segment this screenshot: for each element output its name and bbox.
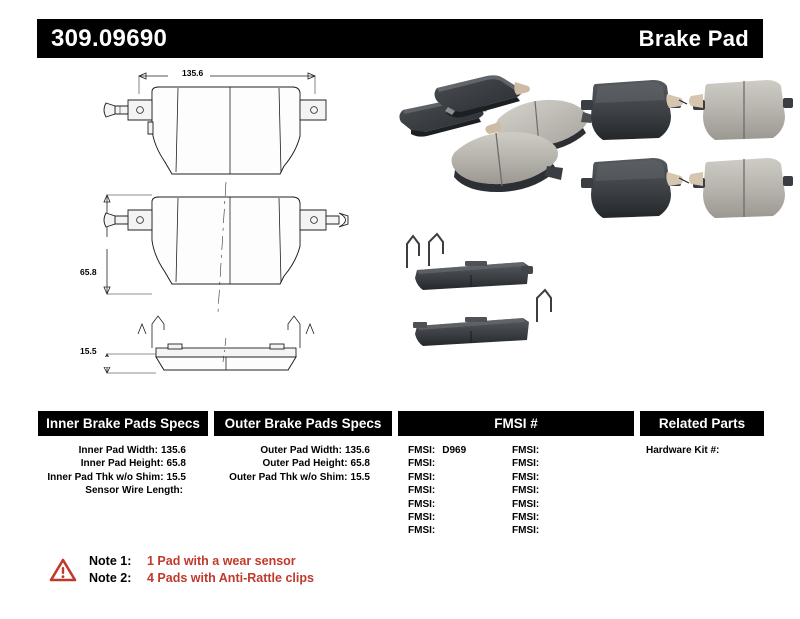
spec-row: Outer Pad Thk w/o Shim:15.5 — [214, 471, 392, 484]
fmsi-row: FMSI: — [408, 511, 512, 524]
fmsi-row: FMSI:D969 — [408, 444, 512, 457]
spec-sheet-page: 309.09690 Brake Pad 135.6 65.8 15.5 STOP… — [0, 0, 800, 619]
fmsi-label: FMSI: — [408, 525, 435, 536]
note-text: 1 Pad with a wear sensor — [147, 553, 296, 570]
spec-row: Outer Pad Height:65.8 — [214, 457, 392, 470]
spec-column-related: Related Parts Hardware Kit #: — [640, 411, 764, 457]
part-number: 309.09690 — [51, 25, 167, 53]
spec-row: Outer Pad Width:135.6 — [214, 444, 392, 457]
related-row: Hardware Kit #: — [646, 444, 764, 457]
spec-label: Inner Pad Thk w/o Shim: — [47, 472, 163, 483]
width-dimension-label: 135.6 — [182, 68, 203, 78]
photo-group-angled — [399, 75, 593, 192]
fmsi-label: FMSI: — [512, 458, 539, 469]
fmsi-row: FMSI: — [512, 471, 616, 484]
spec-value: 65.8 — [351, 458, 370, 469]
photo-flat-dark-top — [581, 80, 687, 140]
related-body: Hardware Kit #: — [640, 436, 764, 457]
related-label: Hardware Kit #: — [646, 445, 719, 456]
warning-triangle-icon — [50, 558, 76, 582]
pad-top-view — [104, 84, 326, 180]
wear-sensor-connector — [104, 103, 128, 117]
thickness-dimension-line — [98, 354, 156, 373]
photo-flat-dark-bottom — [581, 158, 689, 218]
spec-column-fmsi: FMSI # FMSI:D969 FMSI: FMSI: FMSI: FMSI:… — [398, 411, 634, 538]
technical-drawing: 135.6 65.8 15.5 STOPTECH STOPTECH — [60, 62, 400, 382]
fmsi-label: FMSI: — [408, 512, 435, 523]
spec-row: Inner Pad Width:135.6 — [38, 444, 208, 457]
fmsi-row: FMSI: — [512, 444, 616, 457]
spec-label: Outer Pad Width: — [260, 445, 342, 456]
fmsi-label: FMSI: — [408, 458, 435, 469]
spec-column-body-inner: Inner Pad Width:135.6 Inner Pad Height:6… — [38, 436, 208, 498]
fmsi-row: FMSI: — [408, 524, 512, 537]
spec-column-header-outer: Outer Brake Pads Specs — [214, 411, 392, 436]
pad-rear-view — [104, 182, 348, 312]
photo-group-edge — [407, 234, 551, 346]
spec-value: 135.6 — [161, 445, 186, 456]
spec-column-header-fmsi: FMSI # — [398, 411, 634, 436]
photo-group-flat — [581, 80, 793, 218]
fmsi-row: FMSI: — [512, 498, 616, 511]
fmsi-body: FMSI:D969 FMSI: FMSI: FMSI: FMSI: FMSI: … — [398, 436, 634, 538]
anti-rattle-clip-right — [288, 316, 314, 348]
spec-column-outer: Outer Brake Pads Specs Outer Pad Width:1… — [214, 411, 392, 484]
note-label: Note 2: — [89, 570, 141, 587]
spec-column-header-inner: Inner Brake Pads Specs — [38, 411, 208, 436]
note-label: Note 1: — [89, 553, 141, 570]
note-line: Note 2: 4 Pads with Anti-Rattle clips — [89, 570, 314, 587]
notes-section: Note 1: 1 Pad with a wear sensor Note 2:… — [50, 553, 314, 587]
fmsi-row: FMSI: — [408, 457, 512, 470]
note-text: 4 Pads with Anti-Rattle clips — [147, 570, 314, 587]
spec-label: Sensor Wire Length: — [85, 485, 183, 496]
spec-row: Inner Pad Thk w/o Shim:15.5 — [38, 471, 208, 484]
fmsi-row: FMSI: — [512, 457, 616, 470]
fmsi-label: FMSI: — [512, 445, 539, 456]
spec-value: 15.5 — [167, 472, 186, 483]
fmsi-label: FMSI: — [512, 512, 539, 523]
photo-flat-grey-bottom — [689, 158, 793, 218]
anti-rattle-clip-left — [138, 316, 164, 348]
fmsi-label: FMSI: — [512, 525, 539, 536]
spec-table: Inner Brake Pads Specs Inner Pad Width:1… — [38, 411, 764, 541]
spec-label: Inner Pad Height: — [81, 458, 164, 469]
spec-value: 65.8 — [167, 458, 186, 469]
fmsi-label: FMSI: — [408, 445, 435, 456]
spec-label: Outer Pad Height: — [263, 458, 348, 469]
height-dimension-label: 65.8 — [80, 267, 97, 277]
photos-svg — [395, 70, 790, 380]
spec-value: 15.5 — [351, 472, 370, 483]
note-lines: Note 1: 1 Pad with a wear sensor Note 2:… — [89, 553, 314, 587]
note-line: Note 1: 1 Pad with a wear sensor — [89, 553, 314, 570]
thickness-dimension-label: 15.5 — [80, 346, 97, 356]
photo-pad-grey-2 — [452, 132, 564, 192]
fmsi-label: FMSI: — [408, 485, 435, 496]
header-bar: 309.09690 Brake Pad — [37, 19, 763, 58]
photo-edge-pad-bottom — [413, 290, 551, 346]
spec-row: Inner Pad Height:65.8 — [38, 457, 208, 470]
spec-value: 135.6 — [345, 445, 370, 456]
fmsi-label: FMSI: — [408, 472, 435, 483]
spec-label: Outer Pad Thk w/o Shim: — [229, 472, 347, 483]
fmsi-row: FMSI: — [408, 484, 512, 497]
pad-edge-view — [138, 316, 314, 373]
fmsi-label: FMSI: — [512, 472, 539, 483]
fmsi-column-right: FMSI: FMSI: FMSI: FMSI: FMSI: FMSI: FMSI… — [512, 444, 616, 538]
photo-edge-pad-top — [407, 234, 533, 290]
fmsi-row: FMSI: — [512, 524, 616, 537]
fmsi-value: D969 — [442, 445, 466, 456]
fmsi-row: FMSI: — [408, 498, 512, 511]
fmsi-label: FMSI: — [408, 499, 435, 510]
fmsi-row: FMSI: — [512, 511, 616, 524]
photo-flat-grey-top — [689, 80, 793, 140]
fmsi-row: FMSI: — [408, 471, 512, 484]
product-type: Brake Pad — [639, 26, 749, 52]
spec-label: Inner Pad Width: — [79, 445, 158, 456]
spec-column-header-related: Related Parts — [640, 411, 764, 436]
fmsi-label: FMSI: — [512, 499, 539, 510]
fmsi-label: FMSI: — [512, 485, 539, 496]
spec-column-body-outer: Outer Pad Width:135.6 Outer Pad Height:6… — [214, 436, 392, 484]
fmsi-column-left: FMSI:D969 FMSI: FMSI: FMSI: FMSI: FMSI: … — [408, 444, 512, 538]
spec-column-inner: Inner Brake Pads Specs Inner Pad Width:1… — [38, 411, 208, 498]
spec-row: Sensor Wire Length: — [38, 484, 208, 497]
drawing-svg: STOPTECH STOPTECH — [60, 62, 400, 382]
fmsi-row: FMSI: — [512, 484, 616, 497]
product-photos — [395, 70, 790, 380]
